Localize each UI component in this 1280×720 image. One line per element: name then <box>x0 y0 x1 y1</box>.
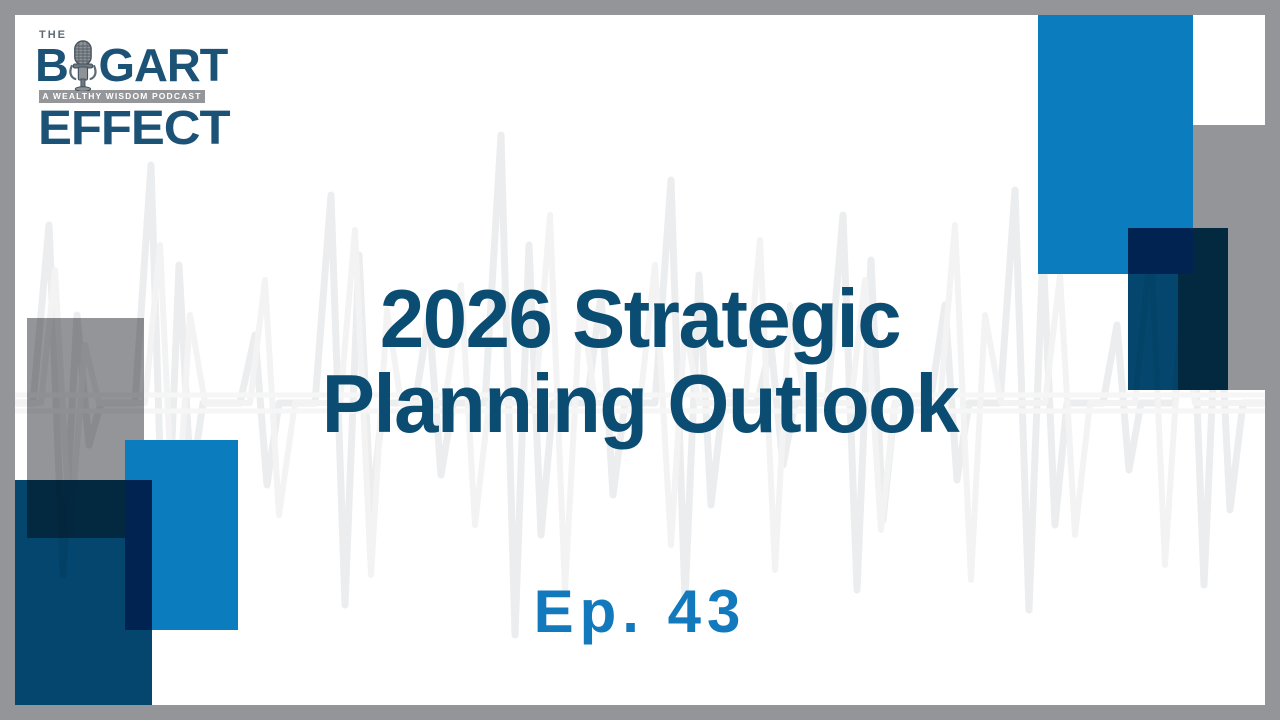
microphone-icon <box>68 42 99 88</box>
episode-cover-slide: THE B <box>0 0 1280 720</box>
podcast-logo: THE B <box>35 30 225 153</box>
logo-effect-wordmark: EFFECT <box>38 105 236 153</box>
episode-title: 2026 Strategic Planning Outlook <box>15 277 1265 446</box>
title-line-2: Planning Outlook <box>40 362 1240 447</box>
slide-canvas: THE B <box>15 15 1265 705</box>
logo-tagline: A WEALTHY WISDOM PODCAST <box>39 90 205 103</box>
title-heading: 2026 Strategic Planning Outlook <box>40 277 1240 446</box>
episode-number: Ep. 43 <box>15 577 1265 646</box>
logo-letter-b: B <box>35 44 68 86</box>
logo-bogart-wordmark: B <box>35 42 229 88</box>
logo-letters-gart: GART <box>98 44 227 86</box>
title-line-1: 2026 Strategic <box>40 277 1240 362</box>
